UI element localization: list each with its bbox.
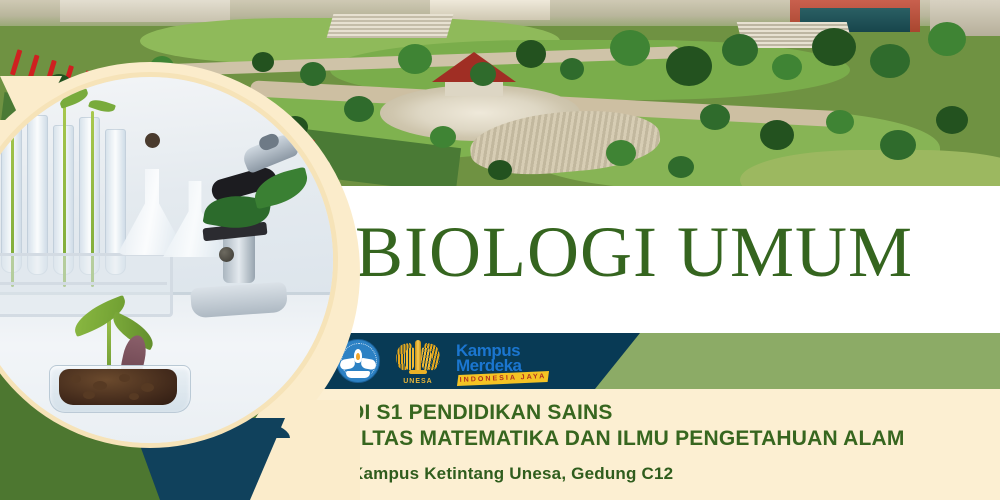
photo-tree xyxy=(826,110,854,134)
location-row: Kampus Ketintang Unesa, Gedung C12 xyxy=(303,459,963,489)
tut-wuri-book-icon xyxy=(346,371,370,378)
photo-tree xyxy=(700,104,730,130)
page-title: BIOLOGI UMUM xyxy=(355,206,975,298)
test-tube xyxy=(27,115,48,275)
photo-steps xyxy=(327,14,454,38)
photo-tree xyxy=(344,96,374,122)
photo-tree xyxy=(252,52,274,72)
photo-tree xyxy=(936,106,968,134)
photo-tree xyxy=(812,28,856,66)
photo-tree xyxy=(760,120,794,150)
unesa-logo-label: UNESA xyxy=(394,378,442,385)
photo-tree xyxy=(606,140,636,166)
potting-soil xyxy=(59,369,177,405)
kampus-merdeka-logo: Kampus Merdeka INDONESIA JAYA xyxy=(456,339,552,383)
biology-laboratory-photograph xyxy=(0,77,333,443)
circle-photo-ring xyxy=(0,72,338,448)
info-text-group: PRODI S1 PENDIDIKAN SAINS FAKULTAS MATEM… xyxy=(303,400,963,489)
photo-tree xyxy=(560,58,584,80)
microscope-focus-knob xyxy=(219,247,234,262)
photo-tree xyxy=(666,46,712,86)
photo-tree xyxy=(928,22,966,56)
photo-tree xyxy=(516,40,546,68)
course-banner: BIOLOGI UMUM UNESA Kampus Merdeka xyxy=(0,0,1000,500)
unesa-base-icon xyxy=(409,370,427,374)
lab-wall-knob xyxy=(145,133,160,148)
photo-tree xyxy=(488,160,512,180)
test-tube-rack xyxy=(0,253,173,317)
photo-tree xyxy=(398,44,432,74)
photo-tree xyxy=(880,130,916,160)
location-label: Kampus Ketintang Unesa, Gedung C12 xyxy=(351,464,673,484)
unesa-torch-icon xyxy=(415,340,421,372)
photo-tree xyxy=(870,44,910,78)
photo-tree xyxy=(610,30,650,66)
test-tube xyxy=(79,117,100,275)
logo-group: UNESA Kampus Merdeka INDONESIA JAYA xyxy=(336,336,552,386)
program-line: PRODI S1 PENDIDIKAN SAINS xyxy=(303,400,963,426)
photo-tree xyxy=(430,126,456,148)
faculty-line: FAKULTAS MATEMATIKA DAN ILMU PENGETAHUAN… xyxy=(303,426,963,452)
photo-tree xyxy=(470,62,496,86)
photo-tree xyxy=(772,54,802,80)
unesa-logo: UNESA xyxy=(394,338,442,384)
photo-building xyxy=(60,0,230,22)
kampus-merdeka-line2: Merdeka xyxy=(456,357,521,374)
photo-tree xyxy=(668,156,694,178)
unesa-wing-inner-left-icon xyxy=(403,348,416,371)
photo-tree xyxy=(722,34,758,66)
